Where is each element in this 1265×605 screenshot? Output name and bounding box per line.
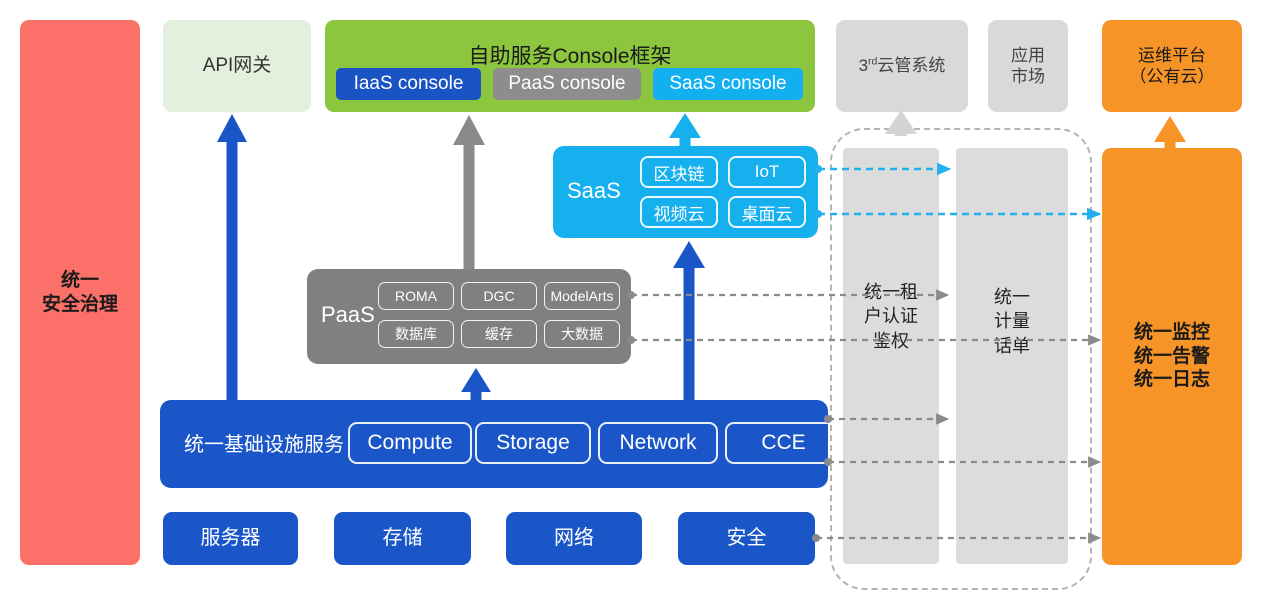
panel-paas-layer: PaaS ROMA DGC ModelArts 数据库 缓存 大数据 [307, 269, 631, 364]
panel-app-market: 应用 市场 [988, 20, 1068, 112]
saas-layer-label: SaaS [567, 178, 621, 204]
hardware-item-security: 安全 [678, 512, 815, 565]
iaas-service-storage[interactable]: Storage [475, 422, 591, 464]
hardware-label: 网络 [554, 526, 594, 551]
iaas-service-label: Network [619, 431, 696, 455]
saas-service-video-cloud[interactable]: 视频云 [640, 196, 718, 228]
saas-service-desktop-cloud[interactable]: 桌面云 [728, 196, 806, 228]
ops-side-line2: 统一告警 [1134, 345, 1210, 369]
paas-service-database[interactable]: 数据库 [378, 320, 454, 348]
ops-platform-line2: （公有云） [1130, 66, 1215, 87]
paas-service-label: DGC [483, 288, 514, 304]
paas-service-label: 大数据 [561, 324, 603, 344]
iaas-console-label: IaaS console [354, 73, 464, 95]
hardware-item-server: 服务器 [163, 512, 298, 565]
paas-service-modelarts[interactable]: ModelArts [544, 282, 620, 310]
panel-unified-monitoring: 统一监控 统一告警 统一日志 [1102, 148, 1242, 565]
col1-line1: 统一租 [843, 280, 939, 304]
api-gateway-label: API网关 [203, 54, 272, 78]
iaas-layer-label: 统一基础设施服务 [184, 428, 344, 457]
iaas-service-label: CCE [761, 431, 805, 455]
paas-service-label: 数据库 [395, 324, 437, 344]
chip-paas-console[interactable]: PaaS console [493, 68, 641, 100]
saas-console-label: SaaS console [669, 73, 786, 95]
iaas-service-network[interactable]: Network [598, 422, 718, 464]
col2-line1: 统一 [956, 285, 1068, 309]
console-framework-title: 自助服务Console框架 [325, 40, 815, 70]
hardware-label: 服务器 [201, 526, 261, 551]
iaas-service-compute[interactable]: Compute [348, 422, 472, 464]
paas-layer-label: PaaS [321, 302, 375, 328]
paas-console-label: PaaS console [508, 73, 625, 95]
paas-service-bigdata[interactable]: 大数据 [544, 320, 620, 348]
col1-line2: 户认证 [843, 304, 939, 328]
panel-saas-layer: SaaS 区块链 IoT 视频云 桌面云 [553, 146, 818, 238]
panel-api-gateway: API网关 [163, 20, 311, 112]
chip-saas-console[interactable]: SaaS console [653, 68, 803, 100]
app-market-line1: 应用 [1011, 45, 1045, 66]
saas-service-blockchain[interactable]: 区块链 [640, 156, 718, 188]
app-market-line2: 市场 [1011, 66, 1045, 87]
third-party-label: 3rd云管系统 [859, 55, 946, 76]
arrow-iaas-to-api-gateway [217, 114, 247, 400]
paas-service-label: ROMA [395, 288, 437, 304]
iaas-service-label: Storage [496, 431, 570, 455]
panel-unified-infrastructure: 统一基础设施服务 Compute Storage Network CCE [160, 400, 828, 488]
panel-console-framework: 自助服务Console框架 IaaS console PaaS console … [325, 20, 815, 112]
iaas-service-label: Compute [367, 431, 452, 455]
saas-service-label: 桌面云 [742, 200, 793, 225]
chip-iaas-console[interactable]: IaaS console [336, 68, 481, 100]
security-label-line1: 统一 [61, 269, 99, 293]
hardware-item-network: 网络 [506, 512, 642, 565]
hardware-item-storage: 存储 [334, 512, 471, 565]
paas-service-label: 缓存 [485, 324, 513, 344]
paas-service-roma[interactable]: ROMA [378, 282, 454, 310]
saas-service-label: 视频云 [654, 200, 705, 225]
col2-line2: 计量 [956, 309, 1068, 333]
column-unified-tenant-auth [843, 148, 939, 564]
col1-line3: 鉴权 [843, 329, 939, 353]
paas-service-label: ModelArts [550, 288, 613, 304]
panel-unified-security-governance: 统一 安全治理 [20, 20, 140, 565]
ops-side-line1: 统一监控 [1134, 321, 1210, 345]
col2-line3: 话单 [956, 334, 1068, 358]
hardware-label: 安全 [727, 526, 767, 551]
ops-side-line3: 统一日志 [1134, 368, 1210, 392]
architecture-diagram: 统一 安全治理 API网关 自助服务Console框架 IaaS console… [0, 0, 1265, 605]
arrow-iaas-to-saas [673, 241, 705, 400]
arrow-iaas-to-paas [461, 368, 491, 400]
panel-ops-platform-public-cloud: 运维平台 （公有云） [1102, 20, 1242, 112]
saas-service-label: IoT [755, 162, 780, 182]
hardware-label: 存储 [383, 526, 423, 551]
paas-service-dgc[interactable]: DGC [461, 282, 537, 310]
ops-platform-line1: 运维平台 [1138, 45, 1206, 66]
arrow-paas-to-console [453, 115, 485, 269]
security-label-line2: 安全治理 [42, 293, 118, 317]
column-unified-metering-label: 统一 计量 话单 [956, 285, 1068, 358]
panel-third-party-cloud-mgmt: 3rd云管系统 [836, 20, 968, 112]
paas-service-cache[interactable]: 缓存 [461, 320, 537, 348]
iaas-service-cce[interactable]: CCE [725, 422, 842, 464]
column-unified-tenant-auth-label: 统一租 户认证 鉴权 [843, 280, 939, 353]
saas-service-iot[interactable]: IoT [728, 156, 806, 188]
saas-service-label: 区块链 [654, 160, 705, 185]
arrow-ops-side-to-ops-platform [1154, 116, 1186, 148]
arrow-saas-to-saas-console [669, 113, 701, 146]
